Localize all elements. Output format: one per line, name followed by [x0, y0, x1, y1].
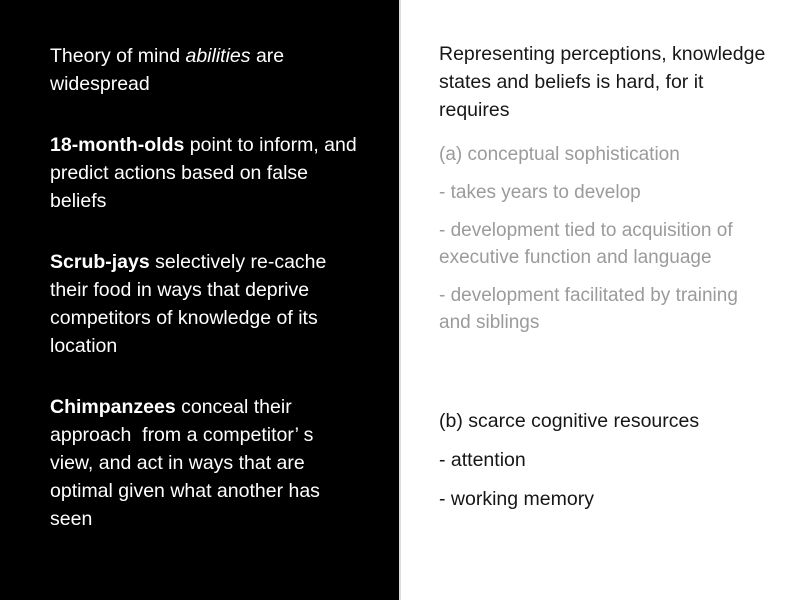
- right-panel-heading: Representing perceptions, knowledge stat…: [439, 40, 769, 124]
- right-light-panel: Representing perceptions, knowledge stat…: [401, 0, 800, 600]
- left-block-chimpanzees: Chimpanzees conceal their approach from …: [50, 393, 360, 533]
- group-a-item-heading: (a) conceptual sophistication: [439, 141, 769, 168]
- group-b-item-attention: - attention: [439, 447, 779, 474]
- left-block-scrub-jays: Scrub-jays selectively re-cache their fo…: [50, 248, 360, 360]
- left-block-18-month-olds: 18-month-olds point to inform, and predi…: [50, 131, 360, 215]
- left-block-theory-of-mind: Theory of mind abilities are widespread: [50, 42, 360, 98]
- left-dark-panel: Theory of mind abilities are widespread …: [0, 0, 399, 600]
- group-b-item-working-memory: - working memory: [439, 486, 779, 513]
- group-a-item-takes-years: - takes years to develop: [439, 179, 769, 206]
- group-a-list: (a) conceptual sophistication - takes ye…: [439, 141, 782, 336]
- group-a-item-development-facilitated: - development facilitated by training an…: [439, 282, 769, 336]
- group-b-list: (b) scarce cognitive resources - attenti…: [439, 408, 782, 513]
- presentation-slide: Theory of mind abilities are widespread …: [0, 0, 800, 600]
- group-a-item-development-tied: - development tied to acquisition of exe…: [439, 217, 769, 271]
- group-b-item-heading: (b) scarce cognitive resources: [439, 408, 779, 435]
